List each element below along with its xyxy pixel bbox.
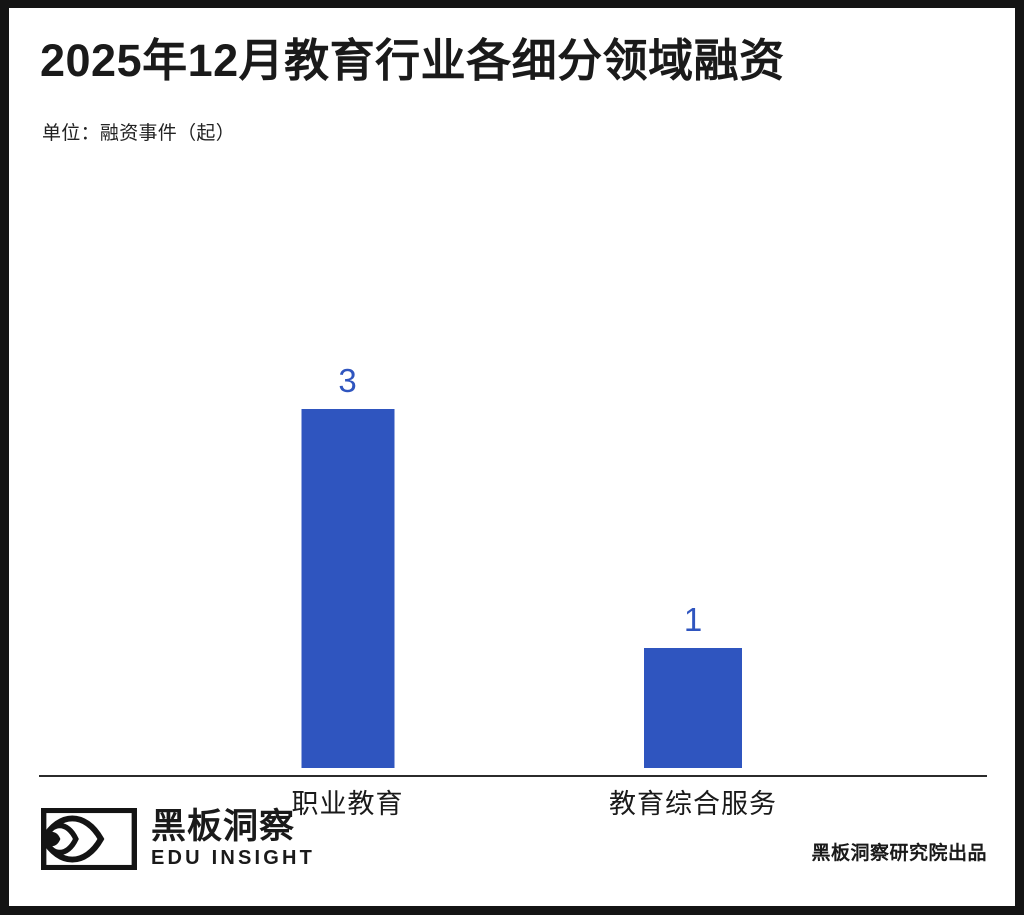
bar-group-1: 1 教育综合服务 — [644, 96, 742, 768]
chart-canvas: 2025年12月教育行业各细分领域融资 单位：融资事件（起） 3 职业教育 1 … — [9, 8, 1015, 906]
image-frame: 2025年12月教育行业各细分领域融资 单位：融资事件（起） 3 职业教育 1 … — [0, 0, 1024, 915]
brand-logo: 黑板洞察 EDU INSIGHT — [41, 808, 315, 871]
bar-rect-0 — [301, 409, 394, 768]
brand-name-cn: 黑板洞察 — [151, 808, 315, 846]
footer-divider — [39, 775, 987, 777]
bar-rect-1 — [644, 648, 742, 768]
eye-logo-icon — [41, 808, 137, 870]
footer: 黑板洞察 EDU INSIGHT 黑板洞察研究院出品 — [9, 798, 1015, 898]
bar-value-label-1: 1 — [684, 603, 702, 636]
bar-group-0: 3 职业教育 — [301, 96, 394, 768]
bar-chart-plot-area: 3 职业教育 1 教育综合服务 — [9, 8, 1015, 768]
brand-name-en: EDU INSIGHT — [151, 846, 315, 871]
bar-value-label-0: 3 — [338, 364, 356, 397]
brand-text: 黑板洞察 EDU INSIGHT — [151, 808, 315, 871]
footer-credit: 黑板洞察研究院出品 — [811, 838, 987, 865]
